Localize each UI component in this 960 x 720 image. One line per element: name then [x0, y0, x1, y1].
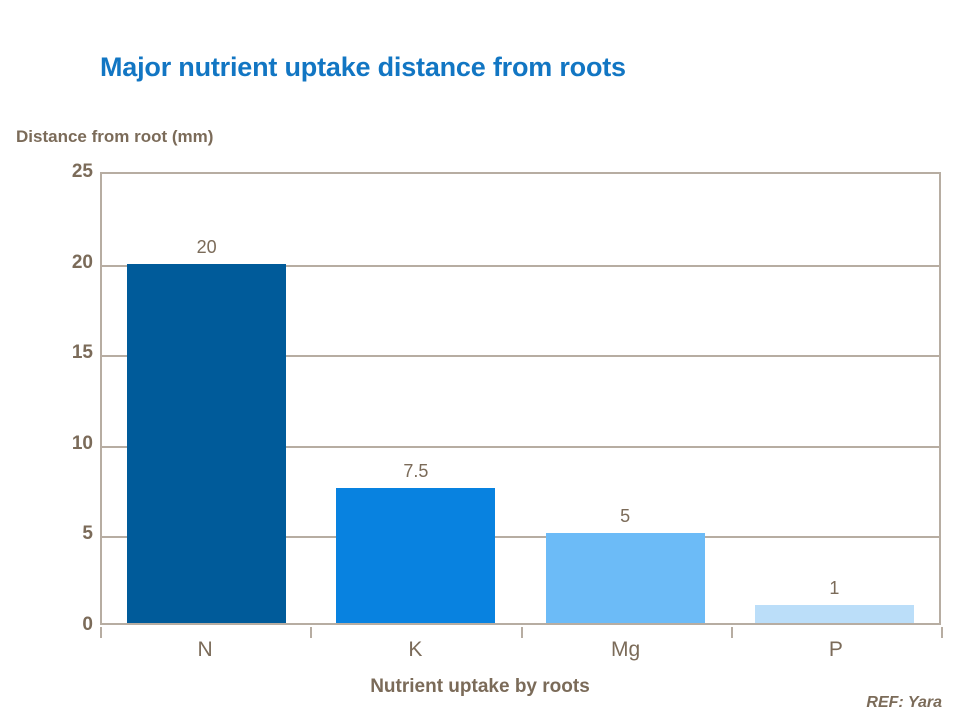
y-axis-tick-label: 25: [72, 161, 93, 183]
x-axis-title: Nutrient uptake by roots: [0, 676, 960, 698]
bar-p[interactable]: 1: [755, 605, 914, 623]
bars-layer: 207.551: [102, 174, 939, 623]
plot-area: 207.551: [100, 172, 941, 625]
bar-k[interactable]: 7.5: [336, 488, 495, 623]
x-axis-label-k: K: [310, 638, 520, 662]
x-axis-label-p: P: [731, 638, 941, 662]
y-axis-tick-label: 0: [82, 614, 93, 636]
bar-n[interactable]: 20: [127, 264, 286, 623]
bar-value-label: 5: [546, 506, 705, 533]
x-axis-tick-mark: [731, 627, 733, 638]
bar-mg[interactable]: 5: [546, 533, 705, 623]
bar-slot: 20: [102, 174, 311, 623]
x-axis-label-n: N: [100, 638, 310, 662]
y-axis-tick-label: 5: [82, 523, 93, 545]
x-axis-tick-marks: [100, 627, 941, 638]
bar-value-label: 7.5: [336, 461, 495, 488]
x-axis-tick-mark: [941, 627, 943, 638]
x-axis-tick-mark: [310, 627, 312, 638]
bar-slot: 7.5: [311, 174, 520, 623]
y-axis-tick-label: 10: [72, 433, 93, 455]
x-axis-label-mg: Mg: [521, 638, 731, 662]
bar-slot: 1: [730, 174, 939, 623]
chart-title: Major nutrient uptake distance from root…: [100, 52, 626, 83]
bar-value-label: 20: [127, 237, 286, 264]
y-axis-tick-label: 15: [72, 342, 93, 364]
y-axis-tick-labels: 0510152025: [0, 172, 93, 625]
x-axis-category-labels: NKMgP: [100, 638, 941, 662]
reference-note: REF: Yara: [866, 694, 942, 712]
x-axis-tick-mark: [100, 627, 102, 638]
bar-value-label: 1: [755, 578, 914, 605]
bar-slot: 5: [521, 174, 730, 623]
chart-container: Major nutrient uptake distance from root…: [0, 0, 960, 720]
y-axis-title: Distance from root (mm): [16, 127, 213, 147]
x-axis-tick-mark: [521, 627, 523, 638]
y-axis-tick-label: 20: [72, 252, 93, 274]
